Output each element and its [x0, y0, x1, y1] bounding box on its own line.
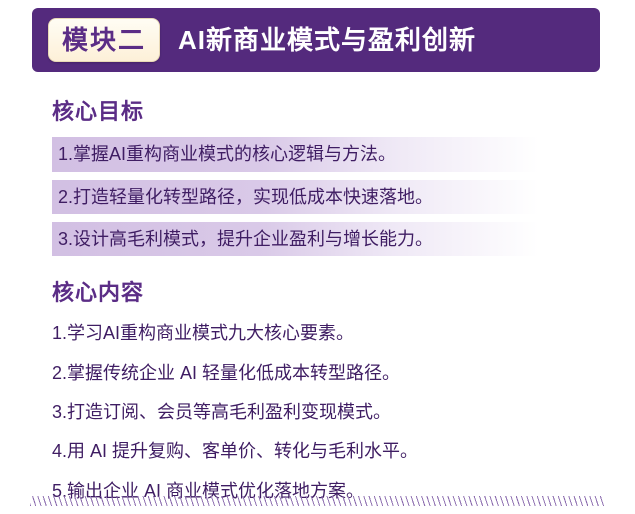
- section-heading-core-contents: 核心内容: [52, 280, 605, 306]
- core-contents-list: 1.学习AI重构商业模式九大核心要素。 2.掌握传统企业 AI 轻量化低成本转型…: [52, 318, 605, 505]
- list-item: 2.掌握传统企业 AI 轻量化低成本转型路径。: [52, 358, 605, 388]
- core-goals-list: 1.掌握AI重构商业模式的核心逻辑与方法。 2.打造轻量化转型路径，实现低成本快…: [52, 137, 605, 256]
- module-badge-label: 模块二: [62, 27, 146, 53]
- module-title: AI新商业模式与盈利创新: [178, 27, 476, 53]
- list-item: 3.打造订阅、会员等高毛利盈利变现模式。: [52, 397, 605, 427]
- module-content: 核心目标 1.掌握AI重构商业模式的核心逻辑与方法。 2.打造轻量化转型路径，实…: [0, 80, 635, 514]
- list-item: 3.设计高毛利模式，提升企业盈利与增长能力。: [52, 222, 605, 256]
- list-item: 1.学习AI重构商业模式九大核心要素。: [52, 318, 605, 348]
- list-item: 4.用 AI 提升复购、客单价、转化与毛利水平。: [52, 436, 605, 466]
- section-heading-core-goals: 核心目标: [52, 99, 605, 125]
- hatch-divider: [30, 496, 605, 506]
- section-core-contents: 核心内容 1.学习AI重构商业模式九大核心要素。 2.掌握传统企业 AI 轻量化…: [52, 280, 605, 506]
- module-header-bar: 模块二 AI新商业模式与盈利创新: [32, 8, 600, 72]
- module-badge: 模块二: [48, 18, 160, 62]
- list-item: 1.掌握AI重构商业模式的核心逻辑与方法。: [52, 137, 605, 171]
- list-item: 2.打造轻量化转型路径，实现低成本快速落地。: [52, 180, 605, 214]
- section-core-goals: 核心目标 1.掌握AI重构商业模式的核心逻辑与方法。 2.打造轻量化转型路径，实…: [52, 99, 605, 256]
